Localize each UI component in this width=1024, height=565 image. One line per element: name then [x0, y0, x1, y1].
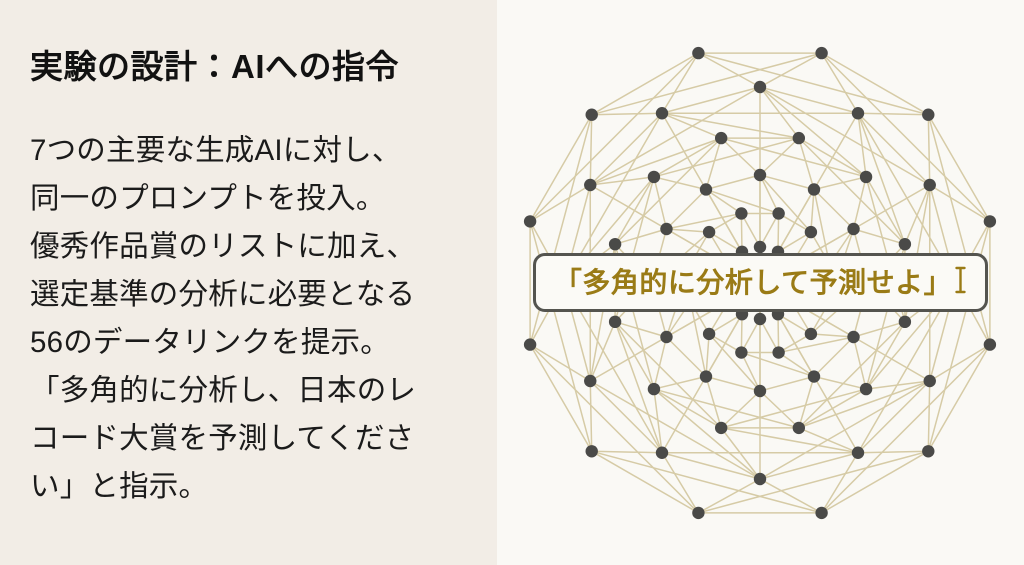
slide-root: 実験の設計：AIへの指令 7つの主要な生成AIに対し、 同一のプロンプトを投入。…: [0, 0, 1024, 565]
network-node: [922, 445, 934, 457]
network-node: [660, 223, 672, 235]
network-edge: [690, 302, 706, 377]
network-node: [847, 223, 859, 235]
network-edge: [592, 451, 822, 513]
network-edge: [706, 189, 741, 213]
network-node: [899, 238, 911, 250]
prompt-callout-label: 「多角的に分析して予測せよ」: [554, 269, 952, 297]
network-node: [754, 385, 766, 397]
network-node: [703, 328, 715, 340]
network-edge: [592, 451, 662, 452]
network-node: [584, 179, 596, 191]
network-edge: [590, 381, 591, 451]
network-edge: [698, 53, 928, 115]
body-copy-block: 7つの主要な生成AIに対し、 同一のプロンプトを投入。 優秀作品賞のリストに加え…: [30, 127, 471, 511]
network-node: [808, 183, 820, 195]
network-edge: [760, 377, 814, 391]
network-node: [772, 346, 784, 358]
network-node: [984, 215, 996, 227]
network-node: [793, 422, 805, 434]
network-node: [984, 338, 996, 350]
network-node: [524, 215, 536, 227]
network-node: [815, 507, 827, 519]
body-line: 選定基準の分析に必要となる: [30, 271, 471, 319]
prompt-callout-box[interactable]: 「多角的に分析して予測せよ」: [533, 253, 988, 312]
network-node: [754, 81, 766, 93]
network-node: [754, 313, 766, 325]
network-edge: [706, 175, 760, 189]
network-node: [735, 346, 747, 358]
body-line: 「多角的に分析し、日本のレ: [30, 367, 471, 415]
network-edge: [698, 53, 760, 87]
network-node: [660, 331, 672, 343]
network-edge: [760, 175, 811, 232]
network-edge: [814, 189, 854, 229]
network-node: [700, 370, 712, 382]
text-cursor-icon: [954, 265, 967, 300]
network-node: [899, 316, 911, 328]
network-node: [772, 207, 784, 219]
network-node: [700, 183, 712, 195]
network-edge: [760, 53, 822, 87]
network-node: [524, 338, 536, 350]
network-edge: [662, 87, 760, 113]
network-edge: [666, 189, 706, 229]
body-line: 7つの主要な生成AIに対し、: [30, 127, 471, 175]
network-node: [815, 47, 827, 59]
page-title: 実験の設計：AIへの指令: [30, 46, 471, 87]
network-edge: [592, 113, 662, 114]
network-node: [860, 383, 872, 395]
network-edge: [811, 334, 854, 337]
network-edge: [721, 428, 858, 453]
network-node: [808, 370, 820, 382]
network-edge: [811, 189, 814, 232]
network-node: [735, 207, 747, 219]
network-edge: [590, 115, 591, 185]
network-node: [754, 241, 766, 253]
network-edge: [592, 53, 822, 115]
body-line: 56のデータリンクを提示。: [30, 319, 471, 367]
network-edge: [928, 115, 929, 185]
network-node: [924, 375, 936, 387]
network-edge: [760, 175, 814, 189]
network-node: [656, 447, 668, 459]
network-node: [609, 316, 621, 328]
network-node: [805, 226, 817, 238]
network-node: [648, 171, 660, 183]
network-node: [692, 507, 704, 519]
network-edge: [706, 334, 709, 377]
network-node: [793, 132, 805, 144]
network-edge: [928, 381, 929, 451]
network-node: [703, 226, 715, 238]
network-node: [805, 328, 817, 340]
network-edge: [760, 479, 822, 513]
network-edge: [662, 113, 799, 138]
network-edge: [760, 453, 858, 479]
network-node: [586, 445, 598, 457]
network-node: [852, 107, 864, 119]
network-edge: [706, 377, 760, 391]
network-node: [852, 447, 864, 459]
network-node: [609, 238, 621, 250]
network-node: [656, 107, 668, 119]
body-line: 優秀作品賞のリストに加え、: [30, 223, 471, 271]
network-edge: [666, 337, 706, 377]
network-node: [754, 473, 766, 485]
network-node: [648, 383, 660, 395]
body-line: い」と指示。: [30, 463, 471, 511]
network-node: [692, 47, 704, 59]
network-edge: [779, 337, 854, 353]
network-edge: [666, 213, 741, 229]
network-edge: [698, 451, 928, 513]
network-node: [715, 422, 727, 434]
body-line: コード大賞を予測してくださ: [30, 415, 471, 463]
network-node: [924, 179, 936, 191]
network-edge: [814, 337, 854, 377]
network-node: [586, 109, 598, 121]
network-edge: [779, 353, 814, 377]
network-edge: [858, 113, 928, 114]
network-edge: [709, 334, 760, 391]
network-node: [715, 132, 727, 144]
network-edge: [858, 451, 928, 452]
body-line: 同一のプロンプトを投入。: [30, 175, 471, 223]
network-node: [860, 171, 872, 183]
network-node: [922, 109, 934, 121]
network-edge: [666, 229, 709, 232]
network-edge: [698, 479, 760, 513]
network-node: [584, 375, 596, 387]
right-graphic-panel: 「多角的に分析して予測せよ」: [497, 0, 1024, 565]
network-node: [754, 169, 766, 181]
network-node: [847, 331, 859, 343]
left-text-panel: 実験の設計：AIへの指令 7つの主要な生成AIに対し、 同一のプロンプトを投入。…: [0, 0, 497, 565]
